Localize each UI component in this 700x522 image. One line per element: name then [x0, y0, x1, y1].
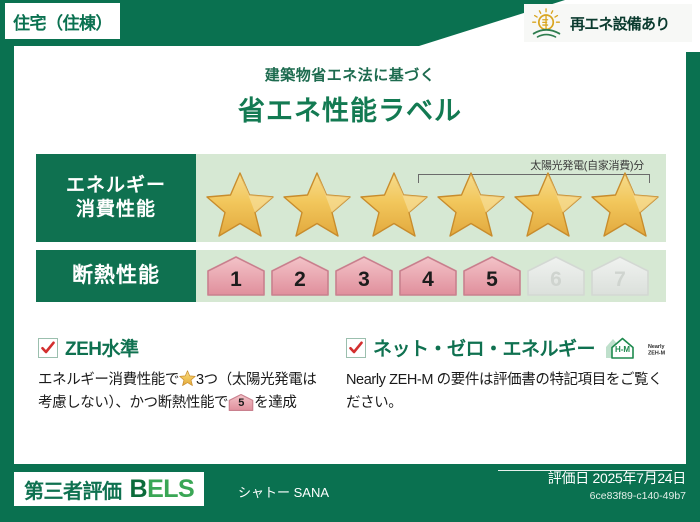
third-party-evaluation-badge: 第三者評価 BELS	[14, 472, 204, 506]
footer-divider	[498, 470, 672, 471]
label-card: 建築物省エネ法に基づく 省エネ性能ラベル エネルギー 消費性能 太陽光発電(自家…	[14, 46, 686, 464]
star-icon	[281, 170, 353, 240]
insulation-grade-value: 3	[333, 269, 395, 290]
star-icon	[589, 170, 661, 240]
evaluation-info: 評価日 2025年7月24日 6ce83f89-c140-49b7	[548, 468, 686, 502]
energy-performance-label-line1: エネルギー	[66, 174, 166, 198]
third-party-evaluation-label: 第三者評価	[24, 475, 122, 504]
energy-performance-label: エネルギー 消費性能	[36, 154, 196, 242]
insulation-grade-badge-inline: 5	[228, 393, 254, 412]
insulation-grade-value: 6	[525, 269, 587, 290]
checkmark-icon	[38, 338, 58, 358]
ratings-section: エネルギー 消費性能 太陽光発電(自家消費)分	[36, 154, 666, 310]
energy-performance-label-line2: 消費性能	[76, 198, 156, 222]
note-body-part1: エネルギー消費性能で	[38, 372, 179, 388]
star-icon	[512, 170, 584, 240]
note-net-zero-energy-body: Nearly ZEH-M の要件は評価書の特記項目をご覧ください。	[346, 369, 670, 415]
evaluation-date: 評価日 2025年7月24日	[548, 468, 686, 488]
note-zeh-standard-title: ZEH水準	[65, 334, 139, 361]
note-net-zero-energy: ネット・ゼロ・エネルギー H-M Nearly ZEH-M Nearly ZEH…	[346, 334, 670, 415]
svg-text:ZEH-M: ZEH-M	[648, 350, 666, 356]
bels-logo-b: B	[130, 475, 148, 503]
insulation-performance-label: 断熱性能	[36, 250, 196, 302]
note-net-zero-energy-header: ネット・ゼロ・エネルギー H-M Nearly ZEH-M	[346, 334, 670, 361]
insulation-grade-badge-6: 6	[525, 254, 587, 298]
star-icon	[204, 170, 276, 240]
bels-logo-els: ELS	[147, 475, 194, 503]
note-zeh-standard-body: エネルギー消費性能で3つ（太陽光発電は考慮しない）、かつ断熱性能で5を達成	[38, 369, 324, 415]
building-name: シャトー SANA	[238, 482, 329, 501]
insulation-performance-row: 断熱性能 1 2 3	[36, 250, 666, 302]
star-icon	[179, 370, 196, 387]
insulation-grade-badge-2: 2	[269, 254, 331, 298]
insulation-performance-body: 1 2 3 4	[196, 250, 666, 302]
footer-bar: 第三者評価 BELS シャトー SANA 評価日 2025年7月24日 6ce8…	[0, 464, 700, 522]
page-title: 省エネ性能ラベル	[14, 89, 686, 128]
star-icon	[435, 170, 507, 240]
energy-performance-row: エネルギー 消費性能 太陽光発電(自家消費)分	[36, 154, 666, 242]
nearly-zeh-m-logo-icon: H-M Nearly ZEH-M	[604, 335, 670, 361]
note-zeh-standard-header: ZEH水準	[38, 334, 324, 361]
insulation-grade-badge-5: 5	[461, 254, 523, 298]
insulation-grade-badge-1: 1	[205, 254, 267, 298]
insulation-grade-badge-4: 4	[397, 254, 459, 298]
insulation-grade-badge-3: 3	[333, 254, 395, 298]
insulation-grade-value: 5	[228, 398, 254, 409]
insulation-grade-value: 5	[461, 269, 523, 290]
note-zeh-standard: ZEH水準 エネルギー消費性能で3つ（太陽光発電は考慮しない）、かつ断熱性能で5…	[38, 334, 324, 415]
insulation-grade-badge-7: 7	[589, 254, 651, 298]
notes-section: ZEH水準 エネルギー消費性能で3つ（太陽光発電は考慮しない）、かつ断熱性能で5…	[38, 334, 670, 415]
note-body-part3: を達成	[254, 395, 296, 411]
dwelling-type-label: 住宅（住棟）	[13, 9, 112, 34]
renewable-equipment-label: 再エネ設備あり	[570, 13, 669, 34]
renewable-equipment-badge: 再エネ設備あり	[524, 4, 692, 42]
svg-text:H-M: H-M	[615, 345, 630, 354]
bels-logo: BELS	[130, 477, 195, 502]
energy-performance-body: 太陽光発電(自家消費)分	[196, 154, 666, 242]
star-icon	[358, 170, 430, 240]
renewable-energy-sun-icon	[528, 7, 566, 39]
insulation-grade-value: 2	[269, 269, 331, 290]
dwelling-type-badge: 住宅（住棟）	[5, 3, 120, 39]
svg-text:Nearly: Nearly	[648, 344, 664, 350]
star-rating	[204, 170, 661, 240]
insulation-grade-value: 7	[589, 269, 651, 290]
evaluation-id: 6ce83f89-c140-49b7	[548, 490, 686, 502]
insulation-grade-scale: 1 2 3 4	[205, 254, 651, 298]
label-subtitle: 建築物省エネ法に基づく	[14, 64, 686, 85]
bels-energy-label: 住宅（住棟） 再エネ設備あり パナホー	[0, 0, 700, 522]
insulation-grade-value: 4	[397, 269, 459, 290]
note-net-zero-energy-title: ネット・ゼロ・エネルギー	[373, 334, 595, 361]
checkmark-icon	[346, 338, 366, 358]
insulation-grade-value: 1	[205, 269, 267, 290]
